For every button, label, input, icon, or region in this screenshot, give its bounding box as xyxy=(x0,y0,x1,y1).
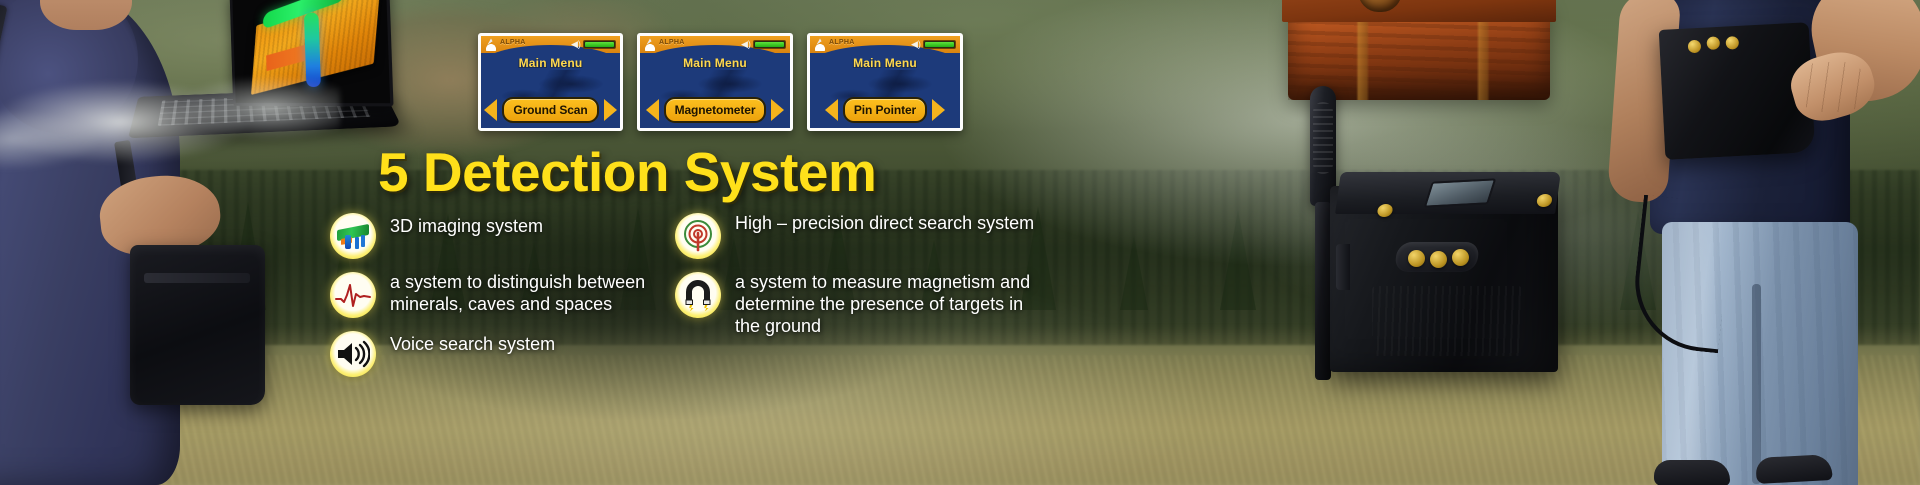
detector-lcd-screen xyxy=(1424,178,1497,207)
feature-item: 3D imaging system xyxy=(330,213,690,259)
feature-label: a system to distinguish between minerals… xyxy=(390,272,690,316)
speaker-icon: ◀) xyxy=(741,40,750,49)
page-title: 5 Detection System xyxy=(378,140,876,204)
device-cable xyxy=(1628,195,1733,354)
chest-lid xyxy=(1282,0,1556,22)
feature-label: High – precision direct search system xyxy=(735,213,1034,235)
brand-logo-text: ALPHA xyxy=(829,39,855,46)
feature-item: a system to measure magnetism and determ… xyxy=(675,272,1035,338)
screen-mode-selector: Ground Scan xyxy=(481,97,620,123)
mode-button[interactable]: Ground Scan xyxy=(502,97,598,123)
device-screen-pin-pointer[interactable]: ALPHA ◀) Main Menu Pin Pointer xyxy=(807,33,963,131)
feature-item: a system to distinguish between minerals… xyxy=(330,272,690,318)
battery-icon xyxy=(753,40,786,49)
battery-icon xyxy=(583,40,616,49)
device-screen-magnetometer[interactable]: ALPHA ◀) Main Menu Magnetometer xyxy=(637,33,793,131)
detector-case-top xyxy=(1335,172,1561,214)
operator-right-shoe xyxy=(1654,460,1730,485)
detector-knob xyxy=(1408,250,1425,267)
operator-right-fingers xyxy=(1796,62,1868,112)
screen-mode-selector: Pin Pointer xyxy=(810,97,960,123)
arrow-right-icon[interactable] xyxy=(932,99,945,121)
screen-title: Main Menu xyxy=(640,56,790,70)
device-screens-row: ALPHA ◀) Main Menu Ground Scan ALPHA ◀) … xyxy=(478,33,963,131)
feature-label: 3D imaging system xyxy=(390,213,543,238)
feature-item: Voice search system xyxy=(330,331,690,377)
3d-imaging-icon xyxy=(330,213,376,259)
battery-icon xyxy=(923,40,956,49)
arrow-left-icon[interactable] xyxy=(646,99,659,121)
chest-mist xyxy=(0,60,340,200)
arrow-left-icon[interactable] xyxy=(825,99,838,121)
feature-column-right: High – precision direct search system a … xyxy=(675,213,1035,351)
detector-knob xyxy=(1452,249,1469,266)
waveform-icon xyxy=(330,272,376,318)
detector-latch xyxy=(1536,194,1553,207)
operator-right-leg-seam xyxy=(1752,284,1761,484)
screen-title: Main Menu xyxy=(810,56,960,70)
brand-logo-text: ALPHA xyxy=(659,39,685,46)
operator-right-shoe xyxy=(1755,454,1832,484)
brand-logo-text: ALPHA xyxy=(500,39,526,46)
screen-title: Main Menu xyxy=(481,56,620,70)
arrow-right-icon[interactable] xyxy=(604,99,617,121)
arrow-right-icon[interactable] xyxy=(771,99,784,121)
feature-item: High – precision direct search system xyxy=(675,213,1035,259)
feature-label: Voice search system xyxy=(390,331,555,356)
detector-case-emboss xyxy=(1372,286,1522,356)
speaker-icon: ◀) xyxy=(911,40,920,49)
mode-button[interactable]: Magnetometer xyxy=(664,97,767,123)
arrow-left-icon[interactable] xyxy=(484,99,497,121)
promo-banner: ALPHA ◀) Main Menu Ground Scan ALPHA ◀) … xyxy=(0,0,1920,485)
detector-knob xyxy=(1430,251,1447,268)
detector-case xyxy=(1320,168,1570,378)
radar-target-icon xyxy=(675,213,721,259)
device-screen-ground-scan[interactable]: ALPHA ◀) Main Menu Ground Scan xyxy=(478,33,623,131)
screen-mode-selector: Magnetometer xyxy=(640,97,790,123)
speaker-icon xyxy=(330,331,376,377)
equipment-bag xyxy=(130,245,265,405)
magnet-icon xyxy=(675,272,721,318)
speaker-icon: ◀) xyxy=(571,40,580,49)
operator-right xyxy=(1600,0,1920,485)
detector-case-handle xyxy=(1336,244,1350,290)
feature-label: a system to measure magnetism and determ… xyxy=(735,272,1035,338)
chest-medallion xyxy=(1358,0,1402,12)
feature-column-left: 3D imaging system a system to distinguis… xyxy=(330,213,690,390)
mode-button[interactable]: Pin Pointer xyxy=(843,97,927,123)
